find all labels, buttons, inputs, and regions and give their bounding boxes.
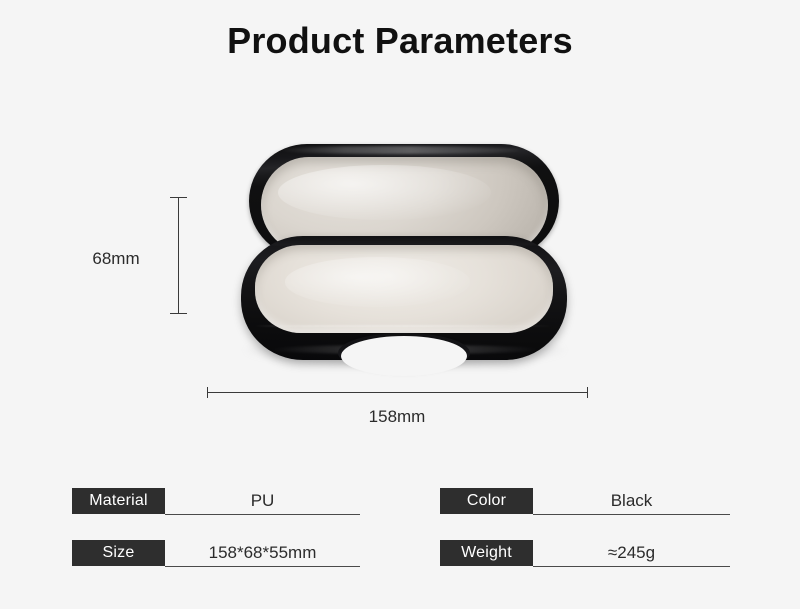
spec-value-weight: ≈245g: [533, 540, 730, 566]
height-dimension-label: 68mm: [66, 249, 166, 269]
spec-key-material: Material: [72, 488, 165, 514]
width-dimension-cap-right: [587, 387, 588, 398]
case-lid-lining-sheen: [278, 165, 490, 221]
width-dimension-label: 158mm: [297, 407, 497, 427]
case-base-notch: [341, 336, 467, 376]
spec-key-size: Size: [72, 540, 165, 566]
case-base-parting-line: [254, 325, 554, 327]
spec-underline-weight: [533, 566, 730, 567]
height-dimension-cap-bottom: [170, 313, 187, 314]
spec-underline-color: [533, 514, 730, 515]
spec-value-color: Black: [533, 488, 730, 514]
case-base-lining-sheen: [285, 257, 470, 306]
spec-row-color: Color Black: [440, 488, 730, 526]
page-title: Product Parameters: [0, 20, 800, 62]
product-image: [205, 128, 595, 378]
spec-underline-material: [165, 514, 360, 515]
spec-underline-size: [165, 566, 360, 567]
spec-row-size: Size 158*68*55mm: [72, 540, 360, 578]
spec-value-material: PU: [165, 488, 360, 514]
spec-row-material: Material PU: [72, 488, 360, 526]
case-lid-rim-gloss: [277, 146, 519, 154]
spec-key-weight: Weight: [440, 540, 533, 566]
case-base-lining: [255, 245, 553, 333]
case-base: [241, 236, 567, 360]
spec-row-weight: Weight ≈245g: [440, 540, 730, 578]
height-dimension-line: [178, 197, 179, 314]
width-dimension-line: [207, 392, 587, 393]
spec-value-size: 158*68*55mm: [165, 540, 360, 566]
spec-key-color: Color: [440, 488, 533, 514]
